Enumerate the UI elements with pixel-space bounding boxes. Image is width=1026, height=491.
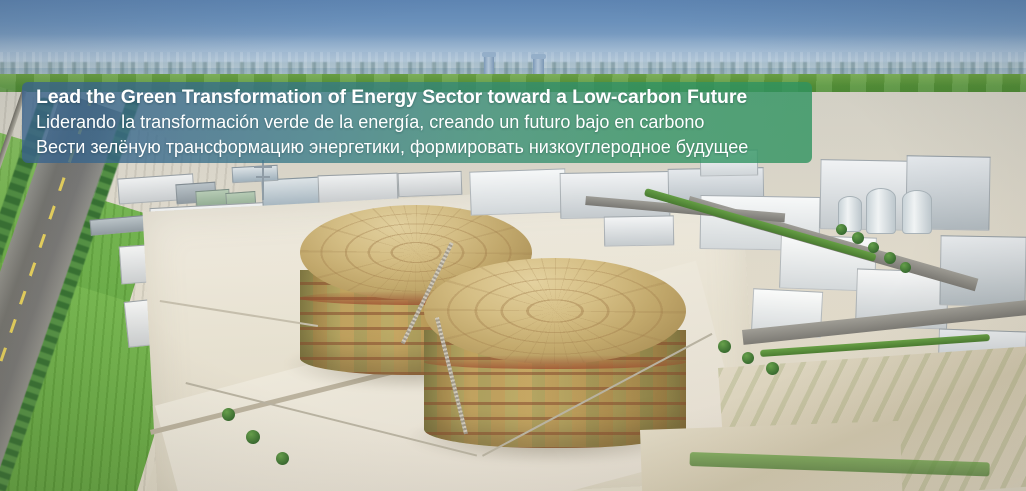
- warehouse-11: [604, 215, 675, 246]
- plant-building-7: [398, 171, 463, 197]
- tree-11: [276, 452, 289, 465]
- warehouse-1: [469, 168, 566, 215]
- headline-title: Lead the Green Transformation of Energy …: [36, 84, 812, 110]
- tree-10: [246, 430, 260, 444]
- headline-text-stack: Lead the Green Transformation of Energy …: [36, 84, 812, 160]
- headline-overlay-panel: Lead the Green Transformation of Energy …: [22, 82, 812, 163]
- silo-1: [866, 188, 896, 234]
- background-photo: [0, 0, 1026, 491]
- tank-front-dome-rings: [424, 258, 686, 364]
- headline-subtitle-spanish: Liderando la transformación verde de la …: [36, 110, 812, 135]
- tree-4: [884, 252, 896, 264]
- tree-6: [718, 340, 731, 353]
- headline-subtitle-russian: Вести зелёную трансформацию энергетики, …: [36, 135, 812, 160]
- tree-9: [222, 408, 235, 421]
- tree-7: [742, 352, 754, 364]
- tree-8: [766, 362, 779, 375]
- hero-banner: Lead the Green Transformation of Energy …: [0, 0, 1026, 491]
- pylon-arm-2: [256, 176, 270, 178]
- pylon-arm-1: [254, 166, 272, 168]
- tree-3: [868, 242, 879, 253]
- silo-2: [902, 190, 932, 234]
- tree-5: [900, 262, 911, 273]
- tree-2: [852, 232, 864, 244]
- tree-1: [836, 224, 847, 235]
